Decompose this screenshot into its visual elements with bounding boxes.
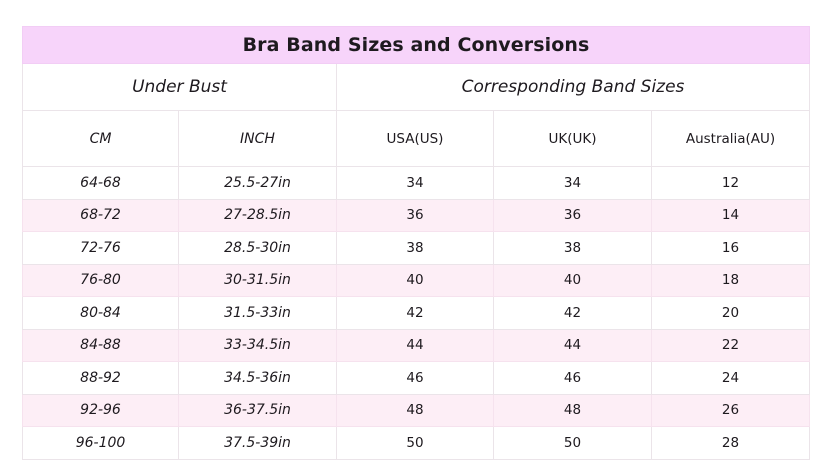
cell-au: 12 [652, 167, 810, 200]
cell-inch: 25.5-27in [179, 167, 337, 200]
column-header-row: CMINCHUSA(US)UK(UK)Australia(AU) [23, 111, 810, 167]
cell-usa: 50 [337, 427, 494, 460]
cell-cm: 88-92 [23, 362, 179, 395]
table-row: 88-9234.5-36in464624 [23, 362, 810, 395]
cell-cm: 72-76 [23, 232, 179, 265]
cell-cm: 64-68 [23, 167, 179, 200]
table-title: Bra Band Sizes and Conversions [23, 27, 810, 64]
column-header-inch: INCH [179, 111, 337, 167]
cell-au: 28 [652, 427, 810, 460]
cell-au: 14 [652, 199, 810, 232]
table-row: 92-9636-37.5in484826 [23, 394, 810, 427]
cell-uk: 46 [494, 362, 652, 395]
cell-usa: 44 [337, 329, 494, 362]
cell-au: 16 [652, 232, 810, 265]
cell-uk: 48 [494, 394, 652, 427]
cell-cm: 92-96 [23, 394, 179, 427]
size-chart-container: Bra Band Sizes and Conversions Under Bus… [22, 26, 809, 446]
cell-usa: 40 [337, 264, 494, 297]
cell-uk: 40 [494, 264, 652, 297]
cell-cm: 68-72 [23, 199, 179, 232]
table-row: 80-8431.5-33in424220 [23, 297, 810, 330]
cell-inch: 33-34.5in [179, 329, 337, 362]
cell-cm: 76-80 [23, 264, 179, 297]
cell-au: 22 [652, 329, 810, 362]
table-row: 68-7227-28.5in363614 [23, 199, 810, 232]
cell-uk: 38 [494, 232, 652, 265]
table-row: 96-10037.5-39in505028 [23, 427, 810, 460]
table-row: 64-6825.5-27in343412 [23, 167, 810, 200]
column-header-uk: UK(UK) [494, 111, 652, 167]
group-header-band-sizes: Corresponding Band Sizes [337, 64, 810, 111]
cell-usa: 36 [337, 199, 494, 232]
title-row: Bra Band Sizes and Conversions [23, 27, 810, 64]
cell-cm: 80-84 [23, 297, 179, 330]
cell-inch: 31.5-33in [179, 297, 337, 330]
cell-inch: 34.5-36in [179, 362, 337, 395]
column-header-au: Australia(AU) [652, 111, 810, 167]
column-header-cm: CM [23, 111, 179, 167]
cell-inch: 36-37.5in [179, 394, 337, 427]
bra-band-size-table: Bra Band Sizes and Conversions Under Bus… [22, 26, 810, 460]
cell-usa: 46 [337, 362, 494, 395]
cell-inch: 28.5-30in [179, 232, 337, 265]
cell-au: 18 [652, 264, 810, 297]
cell-uk: 34 [494, 167, 652, 200]
cell-usa: 42 [337, 297, 494, 330]
table-header: Bra Band Sizes and Conversions Under Bus… [23, 27, 810, 167]
table-row: 84-8833-34.5in444422 [23, 329, 810, 362]
cell-inch: 30-31.5in [179, 264, 337, 297]
cell-inch: 37.5-39in [179, 427, 337, 460]
cell-au: 26 [652, 394, 810, 427]
cell-inch: 27-28.5in [179, 199, 337, 232]
cell-uk: 42 [494, 297, 652, 330]
cell-cm: 96-100 [23, 427, 179, 460]
cell-usa: 34 [337, 167, 494, 200]
column-header-usa: USA(US) [337, 111, 494, 167]
group-header-under-bust: Under Bust [23, 64, 337, 111]
cell-cm: 84-88 [23, 329, 179, 362]
cell-uk: 44 [494, 329, 652, 362]
table-row: 76-8030-31.5in404018 [23, 264, 810, 297]
cell-au: 20 [652, 297, 810, 330]
table-body: 64-6825.5-27in34341268-7227-28.5in363614… [23, 167, 810, 460]
cell-uk: 36 [494, 199, 652, 232]
cell-au: 24 [652, 362, 810, 395]
table-row: 72-7628.5-30in383816 [23, 232, 810, 265]
cell-usa: 38 [337, 232, 494, 265]
group-header-row: Under BustCorresponding Band Sizes [23, 64, 810, 111]
cell-usa: 48 [337, 394, 494, 427]
cell-uk: 50 [494, 427, 652, 460]
